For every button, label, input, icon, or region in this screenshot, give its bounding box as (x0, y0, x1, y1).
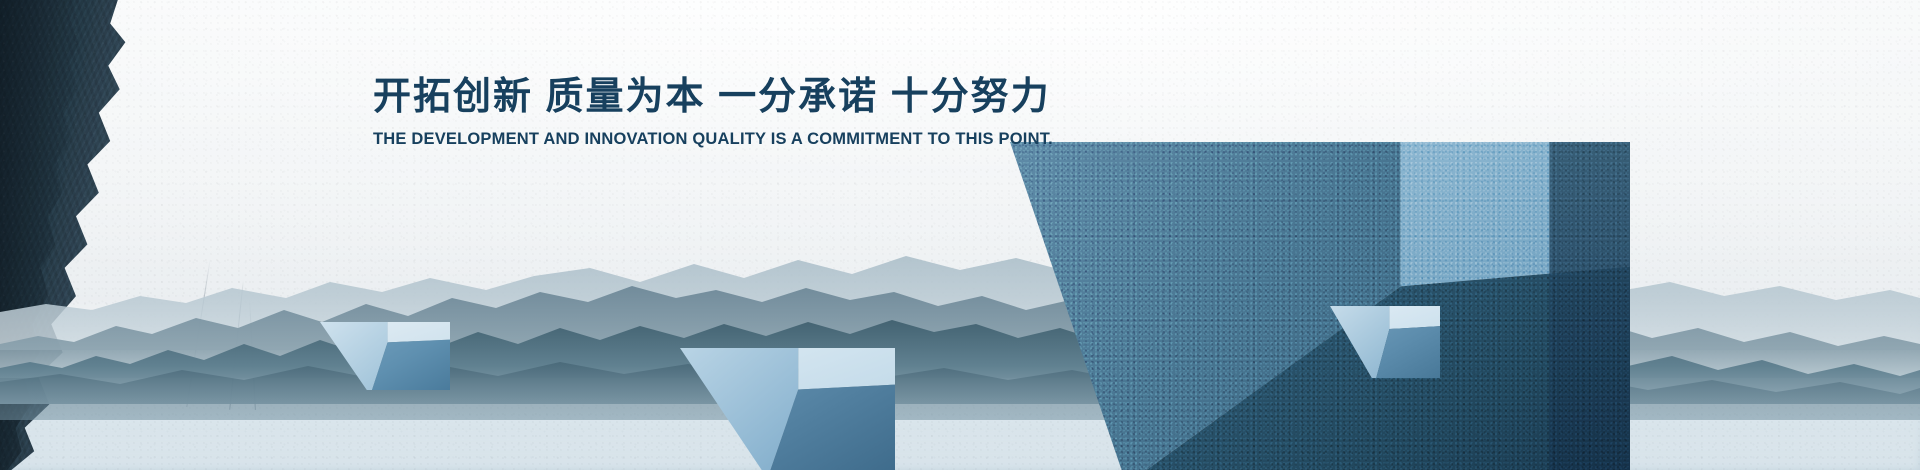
hero-banner: 开拓创新 质量为本 一分承诺 十分努力 THE DEVELOPMENT AND … (0, 0, 1920, 470)
banner-text-block: 开拓创新 质量为本 一分承诺 十分努力 THE DEVELOPMENT AND … (373, 76, 1053, 149)
banner-headline: 开拓创新 质量为本 一分承诺 十分努力 (373, 76, 1053, 119)
small-inverted-pyramid-left (320, 322, 450, 390)
mountain-range-foreground (0, 330, 1920, 420)
large-inverted-pyramid (1010, 142, 1630, 470)
banner-subtitle: THE DEVELOPMENT AND INNOVATION QUALITY I… (373, 130, 1053, 149)
pyramid-apex-glow (1060, 138, 1196, 164)
small-inverted-pyramid-center (680, 348, 895, 470)
small-inverted-pyramid-right (1330, 306, 1440, 378)
